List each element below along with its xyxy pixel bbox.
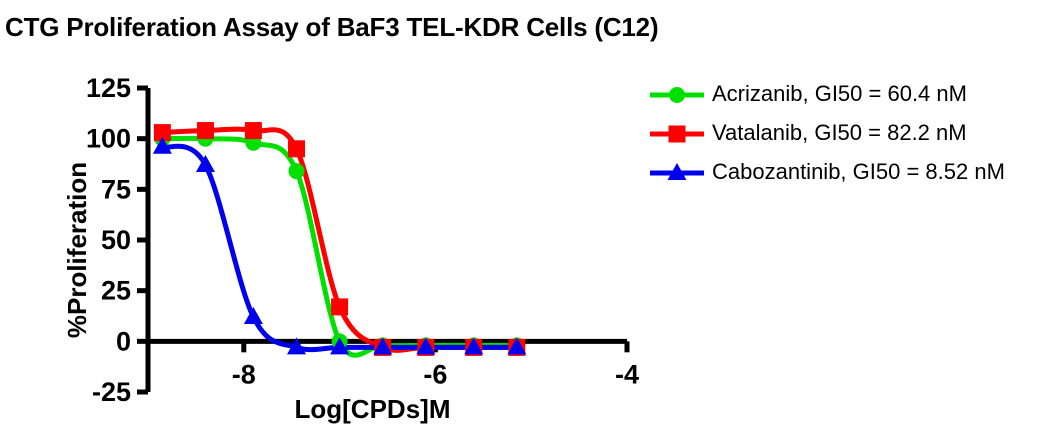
x-tick-label: -8	[232, 359, 256, 389]
legend-label: Acrizanib, GI50 = 60.4 nM	[712, 81, 967, 107]
data-series	[153, 122, 526, 356]
marker-square	[197, 122, 214, 139]
y-tick-label: 75	[101, 174, 131, 204]
series-line	[162, 129, 516, 350]
legend-marker-square-icon	[648, 122, 706, 144]
marker-square	[288, 140, 305, 157]
marker-triangle	[244, 307, 263, 324]
data-point	[288, 163, 304, 179]
y-axis-title: %Proliferation	[62, 162, 92, 338]
legend-label: Vatalanib, GI50 = 82.2 nM	[712, 120, 967, 146]
legend-marker-triangle-icon	[648, 161, 706, 183]
y-tick-label: 25	[101, 276, 131, 306]
legend-item-vatalanib[interactable]: Vatalanib, GI50 = 82.2 nM	[648, 119, 1005, 147]
chart-container: CTG Proliferation Assay of BaF3 TEL-KDR …	[0, 0, 1061, 428]
legend-marker-circle	[669, 87, 685, 103]
data-point	[245, 122, 262, 139]
data-point	[197, 122, 214, 139]
series-line	[162, 146, 516, 349]
y-tick-label: 50	[101, 225, 131, 255]
x-axis-title: Log[CPDs]M	[295, 394, 451, 424]
legend-item-acrizanib[interactable]: Acrizanib, GI50 = 60.4 nM	[648, 80, 1005, 108]
legend-marker-square	[669, 126, 686, 143]
legend-label: Cabozantinib, GI50 = 8.52 nM	[712, 159, 1005, 185]
series-line	[162, 138, 516, 355]
data-point	[288, 140, 305, 157]
legend-marker-circle-icon	[648, 83, 706, 105]
y-tick-label: -25	[92, 377, 131, 407]
plot-area: -250255075100125-8-6-4Log[CPDs]M%Prolife…	[0, 0, 1061, 428]
data-point	[244, 307, 263, 324]
y-tick-label: 100	[86, 124, 131, 154]
marker-square	[331, 298, 348, 315]
chart-legend: Acrizanib, GI50 = 60.4 nMVatalanib, GI50…	[648, 80, 1005, 186]
x-tick-label: -4	[615, 359, 639, 389]
y-tick-label: 125	[86, 73, 131, 103]
marker-circle	[288, 163, 304, 179]
marker-square	[245, 122, 262, 139]
y-tick-label: 0	[116, 326, 131, 356]
legend-item-cabozantinib[interactable]: Cabozantinib, GI50 = 8.52 nM	[648, 158, 1005, 186]
data-point	[331, 298, 348, 315]
x-tick-label: -6	[423, 359, 447, 389]
